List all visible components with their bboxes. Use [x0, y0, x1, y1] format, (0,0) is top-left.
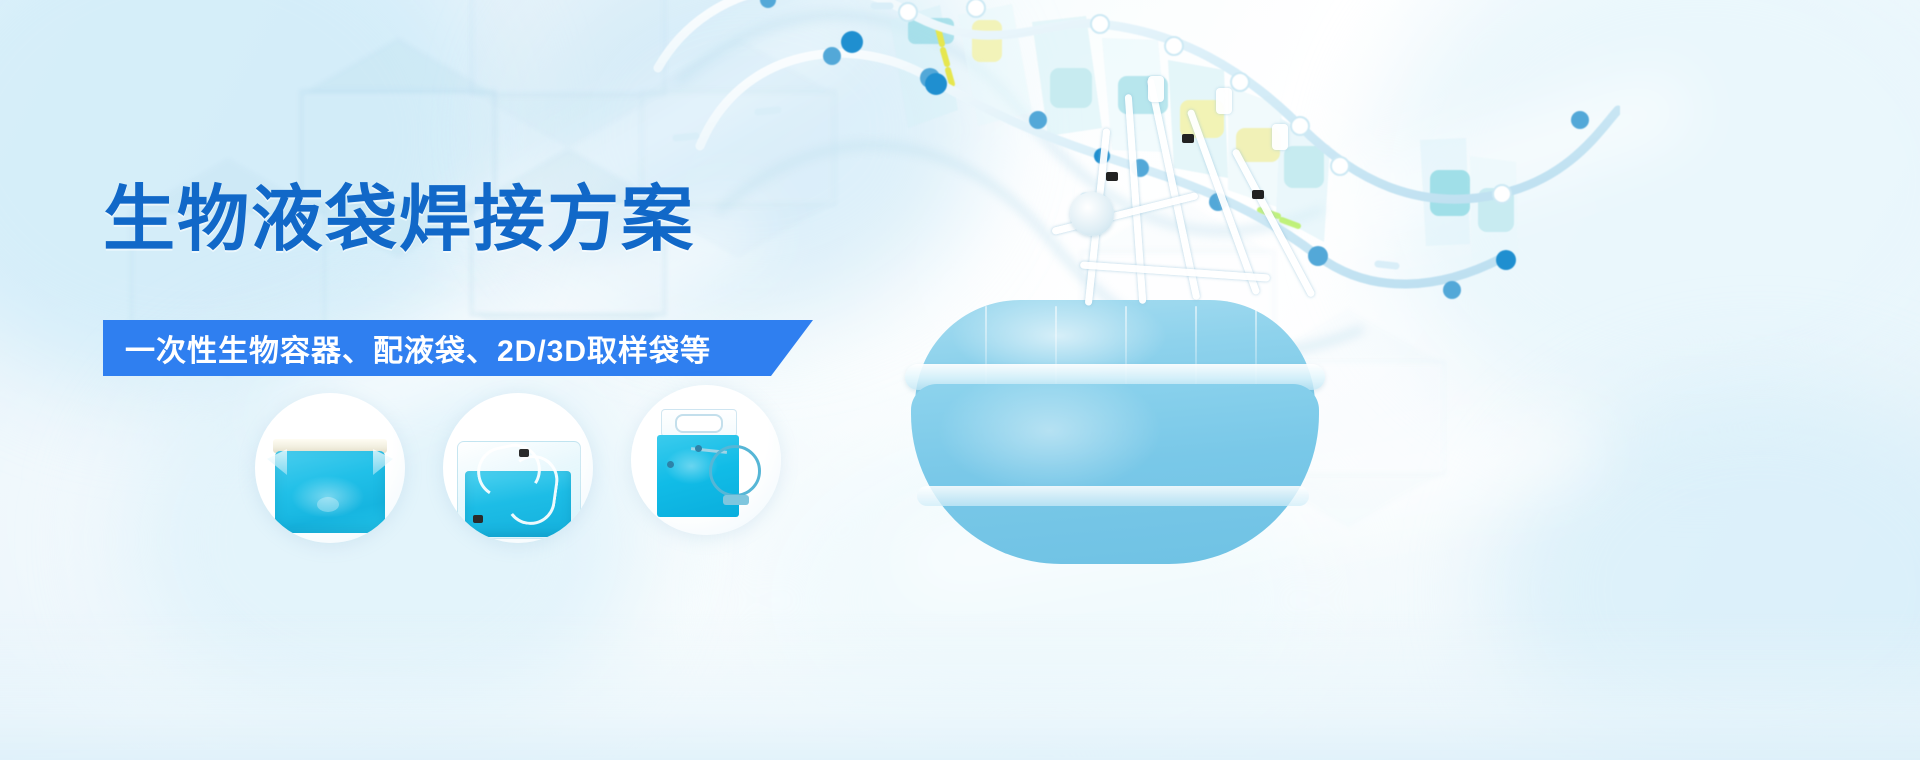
tubing-clamp-icon: [519, 449, 529, 457]
tubing-cap-icon: [1148, 76, 1164, 102]
tubing-loop: [709, 445, 761, 497]
bag-handle: [675, 414, 723, 433]
2d-pillow-bag-image: [267, 439, 393, 535]
tubing-cap-icon: [1216, 88, 1232, 114]
tubing-clamp-icon: [1182, 134, 1194, 143]
bag-lower-chamber: [911, 384, 1319, 564]
background-blob: [520, 0, 980, 320]
product-thumbnail-row: [255, 385, 855, 560]
tubing-clamp-icon: [1252, 190, 1264, 199]
tubing-clamp-icon: [473, 515, 483, 523]
page-title: 生物液袋焊接方案: [103, 178, 1003, 262]
floor-gradient: [0, 610, 1920, 760]
bag-port-icon: [317, 497, 339, 512]
tubing-manifold: [1020, 70, 1340, 330]
tubing-connector-icon: [723, 495, 749, 505]
hero-banner: 生物液袋焊接方案 一次性生物容器、配液袋、2D/3D取样袋等: [0, 0, 1920, 760]
product-circle-2d-bag: [255, 393, 405, 543]
subtitle-banner: 一次性生物容器、配液袋、2D/3D取样袋等: [103, 320, 813, 376]
subtitle-text: 一次性生物容器、配液袋、2D/3D取样袋等: [103, 326, 711, 370]
tubing-line: [1187, 109, 1261, 296]
product-circle-3d-bag: [443, 393, 593, 543]
tubing-clamp-icon: [667, 461, 674, 468]
sampling-bag-image: [651, 409, 763, 533]
3d-bag-image: [451, 437, 585, 541]
background-blob: [1500, 380, 1920, 760]
bag-body: [275, 451, 385, 533]
headline-group: 生物液袋焊接方案 一次性生物容器、配液袋、2D/3D取样袋等: [103, 178, 1003, 262]
tubing-clamp-icon: [695, 445, 702, 452]
background-blob: [1380, 0, 1920, 440]
bag-bottom-seam: [917, 486, 1309, 506]
product-circle-sampling-bag: [631, 385, 781, 535]
bioprocess-bag: [905, 300, 1325, 600]
tubing-clamp-icon: [1106, 172, 1118, 181]
filter-disc-icon: [1070, 192, 1114, 236]
tubing-cap-icon: [1272, 124, 1288, 150]
